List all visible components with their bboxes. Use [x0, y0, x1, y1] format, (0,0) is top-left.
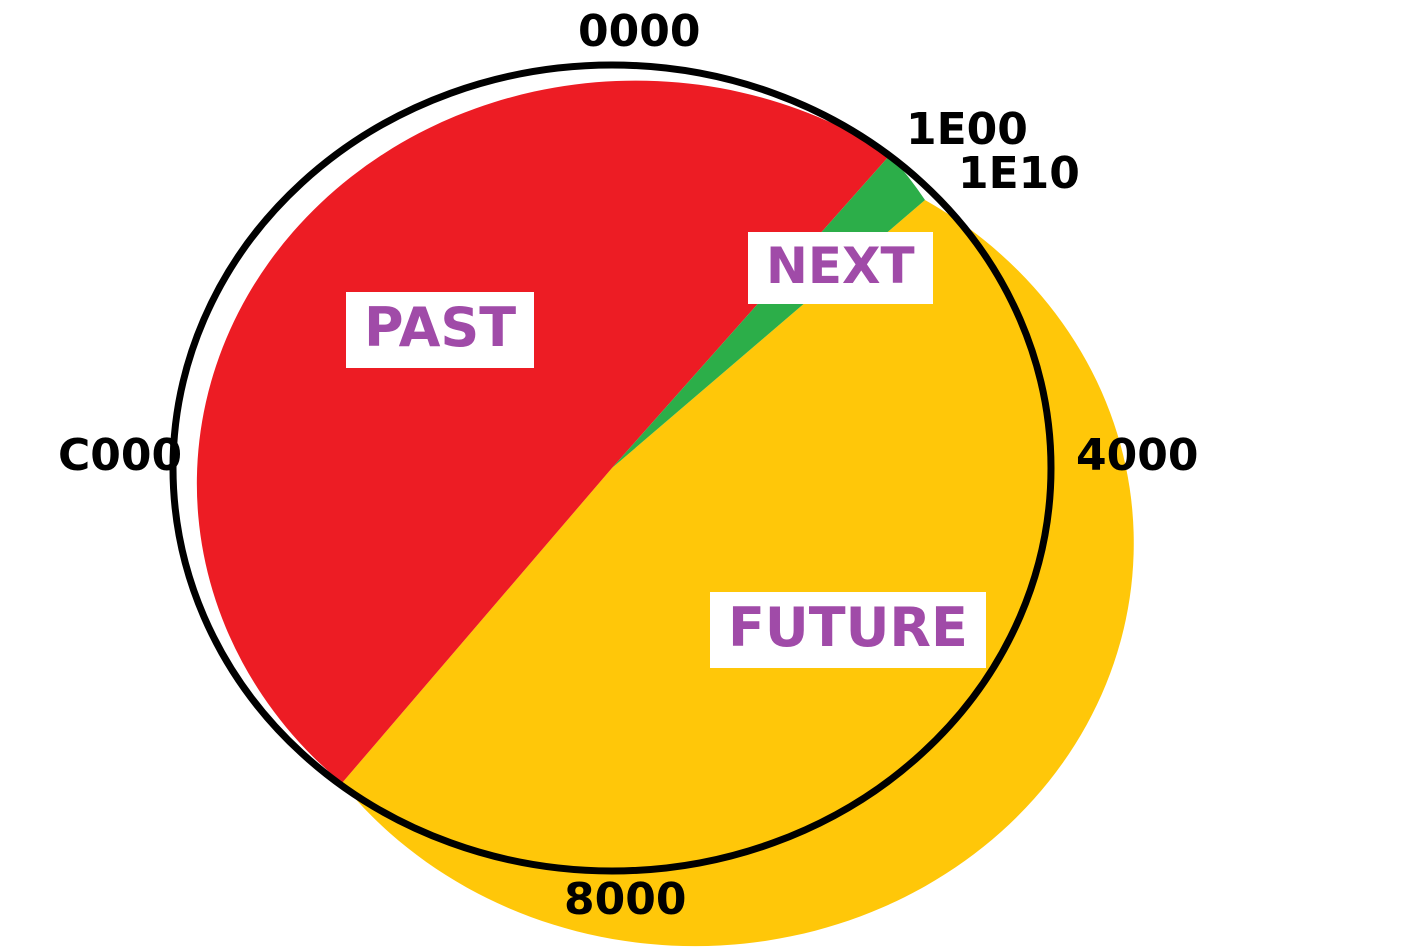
- rim-label-4000: 4000: [1076, 434, 1198, 478]
- region-label-future: FUTURE: [710, 592, 986, 668]
- region-label-next: NEXT: [748, 232, 933, 304]
- rim-label-8000: 8000: [564, 878, 686, 922]
- diagram-canvas: 0000 1E00 1E10 4000 8000 C000 PAST NEXT …: [0, 0, 1404, 949]
- rim-label-1e10: 1E10: [958, 152, 1080, 196]
- rim-label-0000: 0000: [578, 10, 700, 54]
- rim-label-c000: C000: [58, 434, 182, 478]
- rim-label-1e00: 1E00: [906, 108, 1028, 152]
- region-label-past: PAST: [346, 292, 534, 368]
